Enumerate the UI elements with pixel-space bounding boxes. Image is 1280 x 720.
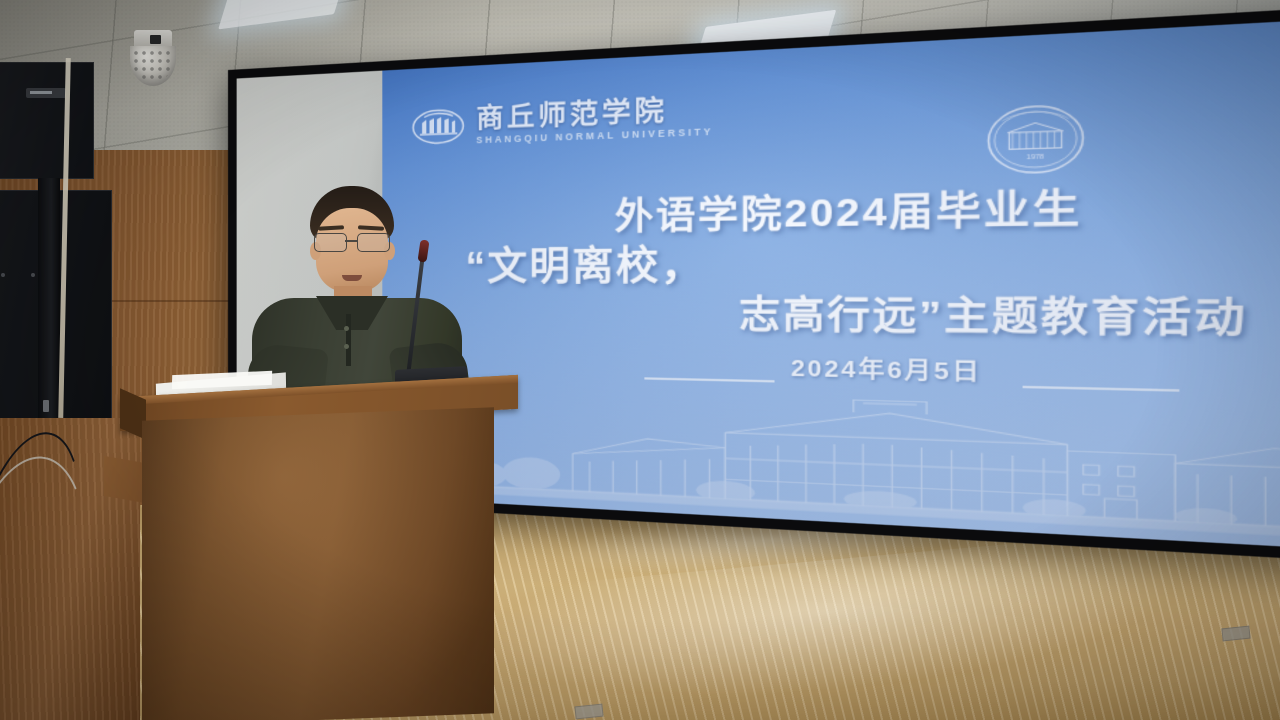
eyeglasses-icon [312, 233, 396, 251]
lens-right [357, 233, 390, 252]
camera-lens [150, 35, 161, 44]
speaker-badge [26, 88, 66, 98]
lens-left [314, 233, 347, 252]
dome-security-camera-icon [128, 30, 178, 88]
conference-hall-photo: 商丘师范学院 SHANGQIU NORMAL UNIVERSITY 1978 外… [0, 0, 1280, 720]
presenter-placket [346, 314, 351, 366]
camera-dome [130, 46, 176, 86]
glasses-bridge [345, 240, 357, 242]
wooden-lectern [120, 386, 518, 720]
presenter-mouth [342, 275, 362, 281]
wall-speaker-cabinet [0, 62, 94, 179]
shirt-button [344, 326, 349, 331]
lectern-body [142, 407, 494, 720]
shirt-button [344, 344, 349, 349]
